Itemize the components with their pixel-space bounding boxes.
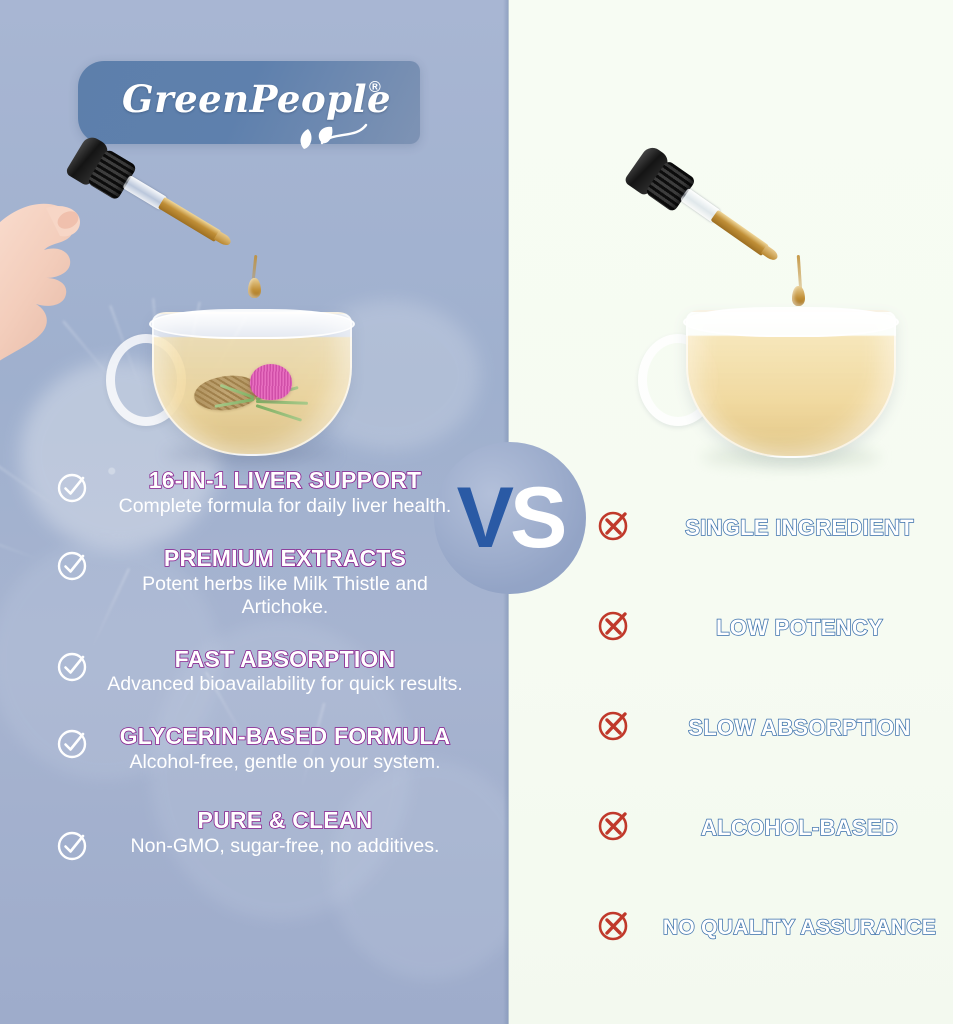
feature-row: GLYCERIN-BASED FORMULA Alcohol-free, gen… (56, 724, 476, 774)
feature-title: 16-IN-1 LIVER SUPPORT (100, 468, 470, 493)
versus-s: S (510, 470, 563, 566)
feature-desc: Complete formula for daily liver health. (100, 495, 470, 518)
our-product-cup (152, 312, 348, 452)
drawback-title: LOW POTENCY (646, 615, 953, 641)
check-circle-icon (56, 728, 100, 765)
feature-title: GLYCERIN-BASED FORMULA (100, 724, 470, 749)
cross-circle-icon (596, 608, 646, 647)
feature-title: PURE & CLEAN (100, 808, 470, 833)
feature-row: 16-IN-1 LIVER SUPPORT Complete formula f… (56, 468, 476, 518)
other-product-cup (686, 310, 892, 454)
registered-trademark-icon: ® (369, 79, 381, 97)
drawback-title: SINGLE INGREDIENT (646, 515, 953, 541)
drawback-row: ALCOHOL-BASED (596, 808, 953, 847)
feature-desc: Advanced bioavailability for quick resul… (100, 673, 470, 696)
cross-circle-icon (596, 508, 646, 547)
check-circle-icon (56, 651, 100, 688)
check-circle-icon (56, 472, 100, 509)
cross-circle-icon (596, 708, 646, 747)
drawback-row: SLOW ABSORPTION (596, 708, 953, 747)
drawback-row: NO QUALITY ASSURANCE (596, 908, 953, 947)
left-oil-drop (248, 278, 261, 298)
brand-logo-text: GreenPeople (122, 77, 391, 121)
our-feature-list: 16-IN-1 LIVER SUPPORT Complete formula f… (56, 468, 476, 867)
cross-circle-icon (596, 908, 646, 947)
drawback-row: SINGLE INGREDIENT (596, 508, 953, 547)
drawback-title: ALCOHOL-BASED (646, 815, 953, 841)
feature-row: PURE & CLEAN Non-GMO, sugar-free, no add… (56, 808, 476, 867)
feature-title: PREMIUM EXTRACTS (100, 546, 470, 571)
leaf-sprig-icon (278, 123, 370, 153)
feature-desc: Alcohol-free, gentle on your system. (100, 751, 470, 774)
check-circle-icon (56, 550, 100, 587)
feature-row: FAST ABSORPTION Advanced bioavailability… (56, 647, 476, 697)
other-feature-list: SINGLE INGREDIENT LOW POTENCY SLOW A (596, 508, 953, 947)
drawback-title: SLOW ABSORPTION (646, 715, 953, 741)
drawback-row: LOW POTENCY (596, 608, 953, 647)
drawback-title: NO QUALITY ASSURANCE (646, 916, 953, 940)
cross-circle-icon (596, 808, 646, 847)
comparison-infographic: GreenPeople ® (0, 0, 953, 1024)
feature-desc: Non-GMO, sugar-free, no additives. (100, 835, 470, 858)
right-oil-drop (792, 286, 805, 306)
feature-title: FAST ABSORPTION (100, 647, 470, 672)
feature-row: PREMIUM EXTRACTS Potent herbs like Milk … (56, 546, 476, 619)
feature-desc: Potent herbs like Milk Thistle and Artic… (100, 573, 470, 619)
check-circle-icon (56, 830, 100, 867)
